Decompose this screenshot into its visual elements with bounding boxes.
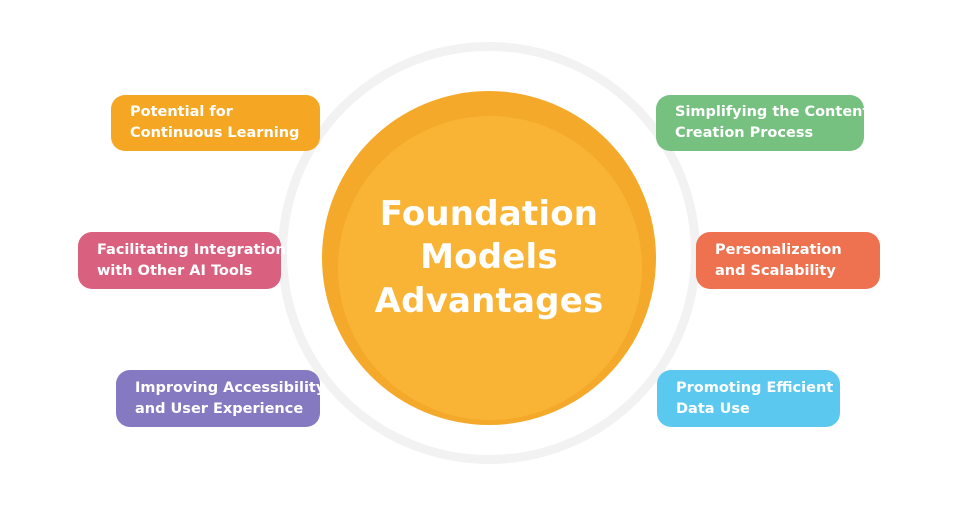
node-integration-ai-tools-line-1: Facilitating Integration (97, 240, 286, 261)
node-personalization-scalability-label: Personalization and Scalability (715, 240, 842, 281)
node-continuous-learning-line-2: Continuous Learning (130, 123, 299, 144)
node-accessibility-user-experience-line-2: and User Experience (135, 399, 325, 420)
node-personalization-scalability-line-2: and Scalability (715, 261, 842, 282)
node-personalization-scalability-line-1: Personalization (715, 240, 842, 261)
node-accessibility-user-experience-line-1: Improving Accessibility (135, 378, 325, 399)
hub-title-line-3: Advantages (375, 280, 604, 324)
node-efficient-data-use-line-2: Data Use (676, 399, 833, 420)
node-accessibility-user-experience[interactable]: Improving Accessibility and User Experie… (116, 370, 320, 427)
diagram-canvas: Foundation Models Advantages Potential f… (0, 0, 958, 520)
node-personalization-scalability[interactable]: Personalization and Scalability (696, 232, 880, 289)
node-content-creation[interactable]: Simplifying the Content Creation Process (656, 95, 864, 151)
hub-title-line-2: Models (375, 236, 604, 280)
node-content-creation-label: Simplifying the Content Creation Process (675, 102, 869, 143)
node-continuous-learning-line-1: Potential for (130, 102, 299, 123)
node-integration-ai-tools-line-2: with Other AI Tools (97, 261, 286, 282)
node-accessibility-user-experience-label: Improving Accessibility and User Experie… (135, 378, 325, 419)
hub-title-line-1: Foundation (375, 193, 604, 237)
node-efficient-data-use[interactable]: Promoting Efficient Data Use (657, 370, 840, 427)
node-efficient-data-use-line-1: Promoting Efficient (676, 378, 833, 399)
node-content-creation-line-1: Simplifying the Content (675, 102, 869, 123)
node-integration-ai-tools-label: Facilitating Integration with Other AI T… (97, 240, 286, 281)
node-integration-ai-tools[interactable]: Facilitating Integration with Other AI T… (78, 232, 281, 289)
hub-title: Foundation Models Advantages (322, 91, 656, 425)
node-efficient-data-use-label: Promoting Efficient Data Use (676, 378, 833, 419)
node-content-creation-line-2: Creation Process (675, 123, 869, 144)
node-continuous-learning-label: Potential for Continuous Learning (130, 102, 299, 143)
node-continuous-learning[interactable]: Potential for Continuous Learning (111, 95, 320, 151)
